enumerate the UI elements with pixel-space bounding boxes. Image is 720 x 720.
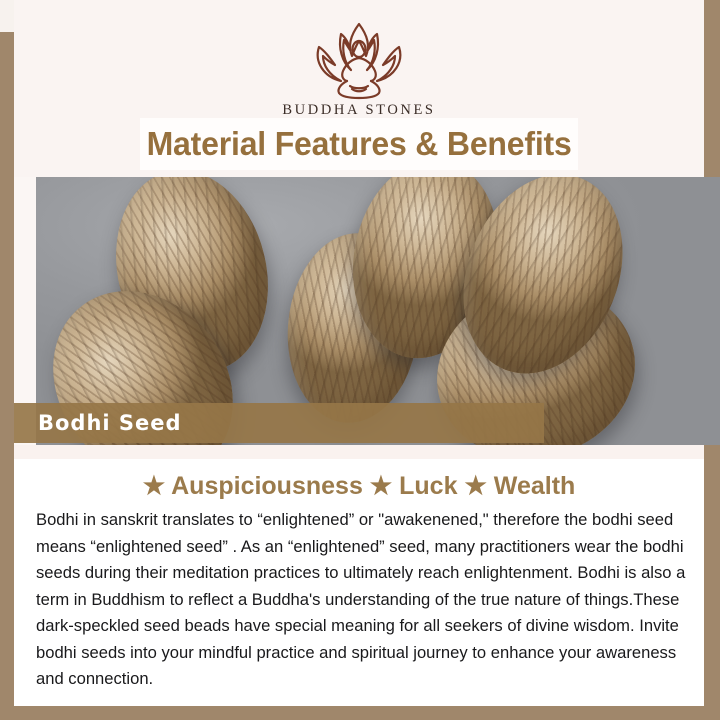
page-title-box: Material Features & Benefits [140,118,578,170]
photo-label-bar: Bodhi Seed [14,403,544,443]
benefits-top-band [14,445,704,459]
benefits-body-text: Bodhi in sanskrit translates to “enlight… [36,507,686,693]
header: BUDDHA STONES Material Features & Benefi… [14,0,704,177]
bottom-frame-strip [0,706,720,720]
brand-logo: BUDDHA STONES [282,18,435,119]
benefits-headline: ★ Auspiciousness ★ Luck ★ Wealth [14,471,704,501]
benefits-section: ★ Auspiciousness ★ Luck ★ Wealth Bodhi i… [14,445,704,706]
page-title: Material Features & Benefits [146,125,571,163]
lotus-meditation-icon [284,18,434,100]
infographic-page: BUDDHA STONES Material Features & Benefi… [0,0,720,720]
brand-name: BUDDHA STONES [282,102,435,119]
photo-label: Bodhi Seed [38,411,182,435]
